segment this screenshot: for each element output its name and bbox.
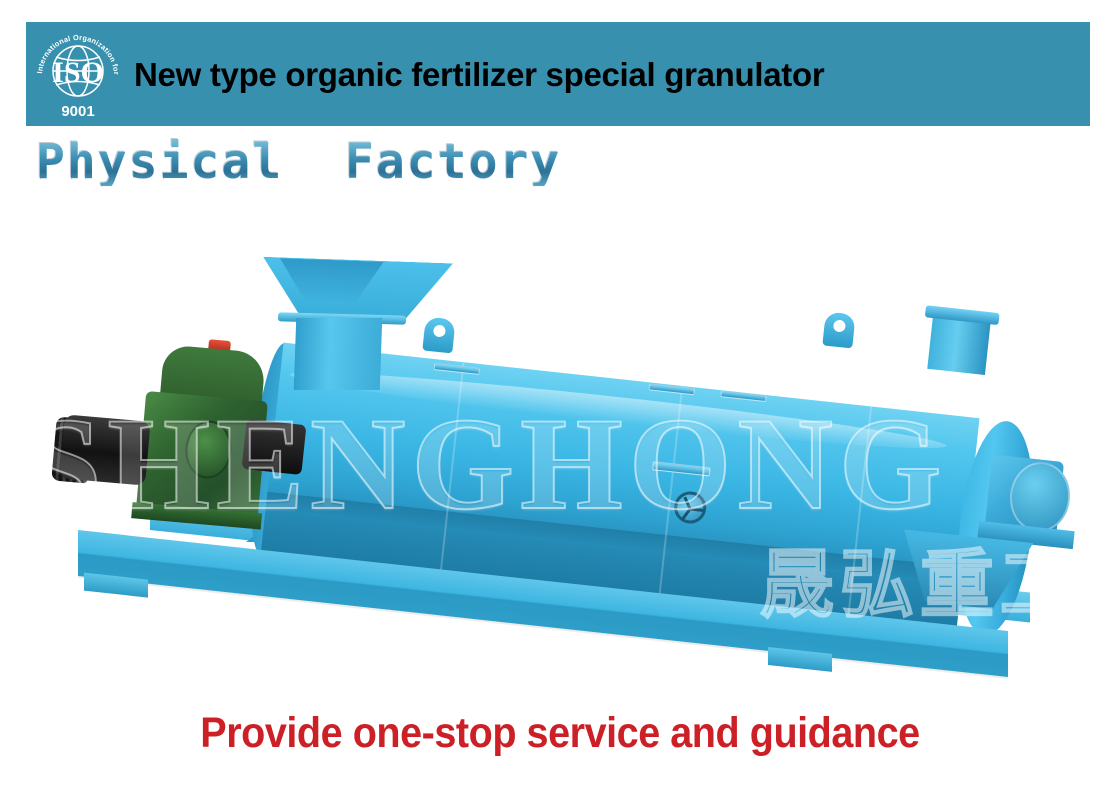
skid-foot xyxy=(84,573,148,598)
product-banner-page: International Organization for Standardi… xyxy=(0,0,1120,799)
inspection-hatch xyxy=(434,363,480,375)
lifting-lug xyxy=(422,317,455,354)
subheading-physical-factory: Physical Factory xyxy=(36,138,561,186)
inspection-hatch xyxy=(649,383,695,395)
iso-wordmark: ISO xyxy=(52,56,104,89)
iso-9001-logo: International Organization for Standardi… xyxy=(26,22,130,126)
skid-foot xyxy=(768,647,832,672)
inspection-handwheel[interactable] xyxy=(673,490,708,525)
top-vent-pipe xyxy=(927,315,990,375)
header-band: International Organization for Standardi… xyxy=(26,22,1090,126)
feed-hopper-neck xyxy=(294,318,383,390)
lifting-lug xyxy=(822,312,855,349)
inspection-hatch xyxy=(720,390,766,402)
side-access-plate xyxy=(652,461,711,476)
drum-specular-highlight xyxy=(289,362,948,459)
shaft-coupling xyxy=(59,414,150,485)
footer-slogan: Provide one-stop service and guidance xyxy=(45,712,1075,755)
iso-standard-number: 9001 xyxy=(61,103,94,120)
page-title: New type organic fertilizer special gran… xyxy=(134,58,824,91)
product-photo xyxy=(0,200,1120,700)
iso-globe-icon: International Organization for Standardi… xyxy=(28,24,128,124)
output-shaft-coupling xyxy=(242,419,307,475)
vent-flange xyxy=(925,305,1000,325)
